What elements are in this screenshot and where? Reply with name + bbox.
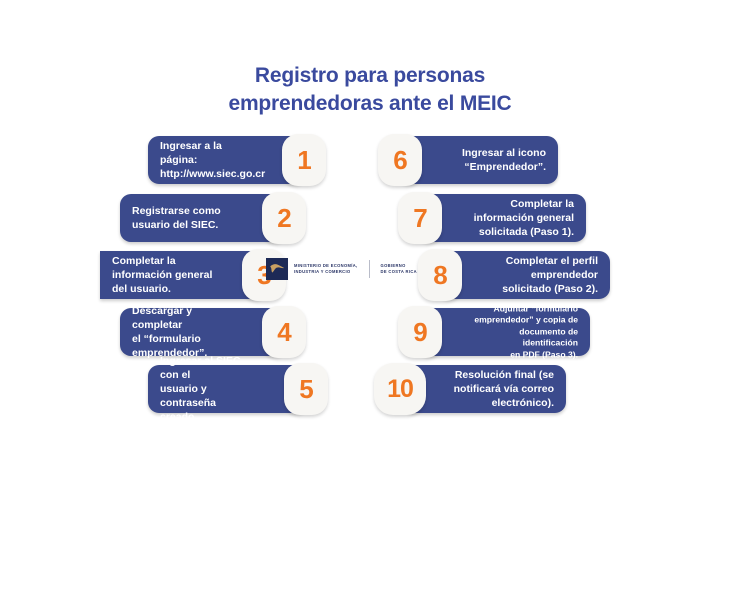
step-number-5: 5 [299,376,312,402]
step-badge-6: 6 [378,134,422,186]
step-row-4: Descargar y completar el “formulario emp… [120,308,306,356]
step-badge-1: 1 [282,134,326,186]
step-badge-5: 5 [284,363,328,415]
step-number-1: 1 [297,147,310,173]
step-number-4: 4 [277,319,290,345]
step-pill-9: Adjuntar “formulario emprendedor” y copi… [418,308,590,356]
step-row-8: Completar el perfil emprendedor solicita… [418,251,610,299]
step-text-3: Completar la información general del usu… [112,254,220,296]
step-number-9: 9 [413,319,426,345]
step-row-3: Completar la información general del usu… [100,251,286,299]
step-badge-10: 10 [374,363,426,415]
logo-divider [369,260,370,278]
step-number-7: 7 [413,205,426,231]
step-pill-6: Ingresar al icono “Emprendedor”. [398,136,558,184]
step-number-2: 2 [277,205,290,231]
step-number-8: 8 [433,262,446,288]
step-badge-2: 2 [262,192,306,244]
step-number-10: 10 [387,377,413,402]
step-text-4: Descargar y completar el “formulario emp… [132,304,240,360]
step-row-6: Ingresar al icono “Emprendedor”. 6 [378,136,558,184]
meic-logo: MINISTERIO DE ECONOMÍA, INDUSTRIA Y COME… [266,254,417,284]
step-row-2: Registrarse como usuario del SIEC. 2 [120,194,306,242]
step-pill-10: Resolución final (se notificará vía corr… [402,365,566,413]
step-row-9: Adjuntar “formulario emprendedor” y copi… [398,308,590,356]
step-text-7: Completar la información general solicit… [464,197,574,239]
step-number-6: 6 [393,147,406,173]
logo-ministry-text: MINISTERIO DE ECONOMÍA, INDUSTRIA Y COME… [294,263,358,275]
step-row-10: Resolución final (se notificará vía corr… [374,365,566,413]
step-text-8: Completar el perfil emprendedor solicita… [484,254,598,296]
step-row-1: Ingresar a la página: http://www.siec.go… [148,136,326,184]
step-badge-8: 8 [418,249,462,301]
step-text-9: Adjuntar “formulario emprendedor” y copi… [464,303,578,360]
step-text-1: Ingresar a la página: http://www.siec.go… [160,139,260,181]
costa-rica-map-emblem-icon [266,258,288,280]
step-badge-4: 4 [262,306,306,358]
step-text-2: Registrarse como usuario del SIEC. [132,204,240,232]
steps-diagram: Ingresar a la página: http://www.siec.go… [0,0,740,600]
step-pill-7: Completar la información general solicit… [418,194,586,242]
step-badge-7: 7 [398,192,442,244]
step-row-5: Ingresar al SIEC con el usuario y contra… [148,365,328,413]
step-text-10: Resolución final (se notificará vía corr… [448,368,554,410]
step-row-7: Completar la información general solicit… [398,194,586,242]
step-text-5: Ingresar al SIEC con el usuario y contra… [160,354,262,424]
step-text-6: Ingresar al icono “Emprendedor”. [444,146,546,174]
step-pill-8: Completar el perfil emprendedor solicita… [438,251,610,299]
step-badge-9: 9 [398,306,442,358]
logo-government-text: GOBIERNO DE COSTA RICA [381,263,417,275]
